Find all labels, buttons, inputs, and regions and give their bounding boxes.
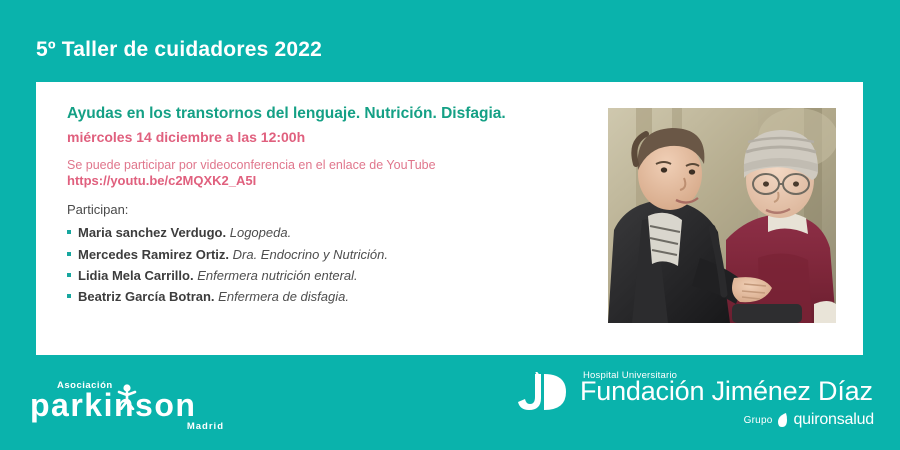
participants-list: Maria sanchez Verdugo. Logopeda. Mercede… bbox=[67, 222, 587, 307]
participant-role: Logopeda. bbox=[230, 225, 291, 240]
stream-note: Se puede participar por videoconferencia… bbox=[67, 158, 587, 172]
grupo-label: Grupo bbox=[744, 415, 773, 426]
jd-monogram-icon bbox=[516, 372, 572, 414]
session-heading: Ayudas en los transtornos del lenguaje. … bbox=[67, 104, 587, 123]
participant-name: Beatriz García Botran. bbox=[78, 289, 215, 304]
youtube-link[interactable]: https://youtu.be/c2MQXK2_A5I bbox=[67, 173, 587, 188]
list-item: Maria sanchez Verdugo. Logopeda. bbox=[67, 222, 587, 243]
quironsalud-group-row: Grupo quironsalud bbox=[744, 411, 874, 429]
bullet-square-icon bbox=[67, 230, 71, 234]
quironsalud-leaf-icon bbox=[777, 413, 788, 428]
content-card: Ayudas en los transtornos del lenguaje. … bbox=[36, 82, 863, 355]
fundacion-jimenez-diaz-logo: Hospital Universitario Fundación Jiménez… bbox=[516, 370, 876, 432]
list-item: Mercedes Ramirez Ortiz. Dra. Endocrino y… bbox=[67, 244, 587, 265]
list-item: Lidia Mela Carrillo. Enfermera nutrición… bbox=[67, 265, 587, 286]
bullet-square-icon bbox=[67, 273, 71, 277]
caregiver-photo bbox=[608, 108, 836, 323]
participants-label: Participan: bbox=[67, 202, 587, 217]
participant-name: Maria sanchez Verdugo. bbox=[78, 225, 226, 240]
fjd-name-label: Fundación Jiménez Díaz bbox=[580, 378, 873, 405]
session-date: miércoles 14 diciembre a las 12:00h bbox=[67, 129, 587, 145]
parkinson-madrid-logo: Asociación parkinson Madrid bbox=[30, 380, 230, 432]
poster-canvas: 5º Taller de cuidadores 2022 Ayudas en l… bbox=[0, 0, 900, 450]
card-text-column: Ayudas en los transtornos del lenguaje. … bbox=[67, 104, 587, 307]
participant-role: Dra. Endocrino y Nutrición. bbox=[233, 247, 388, 262]
bullet-square-icon bbox=[67, 252, 71, 256]
participant-name: Lidia Mela Carrillo. bbox=[78, 268, 194, 283]
bullet-square-icon bbox=[67, 294, 71, 298]
participant-role: Enfermera nutrición enteral. bbox=[197, 268, 357, 283]
parkinson-logo-line3: Madrid bbox=[187, 421, 224, 432]
participant-name: Mercedes Ramirez Ortiz. bbox=[78, 247, 229, 262]
quironsalud-label: quironsalud bbox=[793, 411, 874, 429]
poster-title: 5º Taller de cuidadores 2022 bbox=[36, 38, 322, 62]
person-figure-icon bbox=[116, 384, 138, 410]
list-item: Beatriz García Botran. Enfermera de disf… bbox=[67, 286, 587, 307]
parkinson-logo-line2: parkinson bbox=[30, 389, 196, 421]
participant-role: Enfermera de disfagia. bbox=[218, 289, 349, 304]
